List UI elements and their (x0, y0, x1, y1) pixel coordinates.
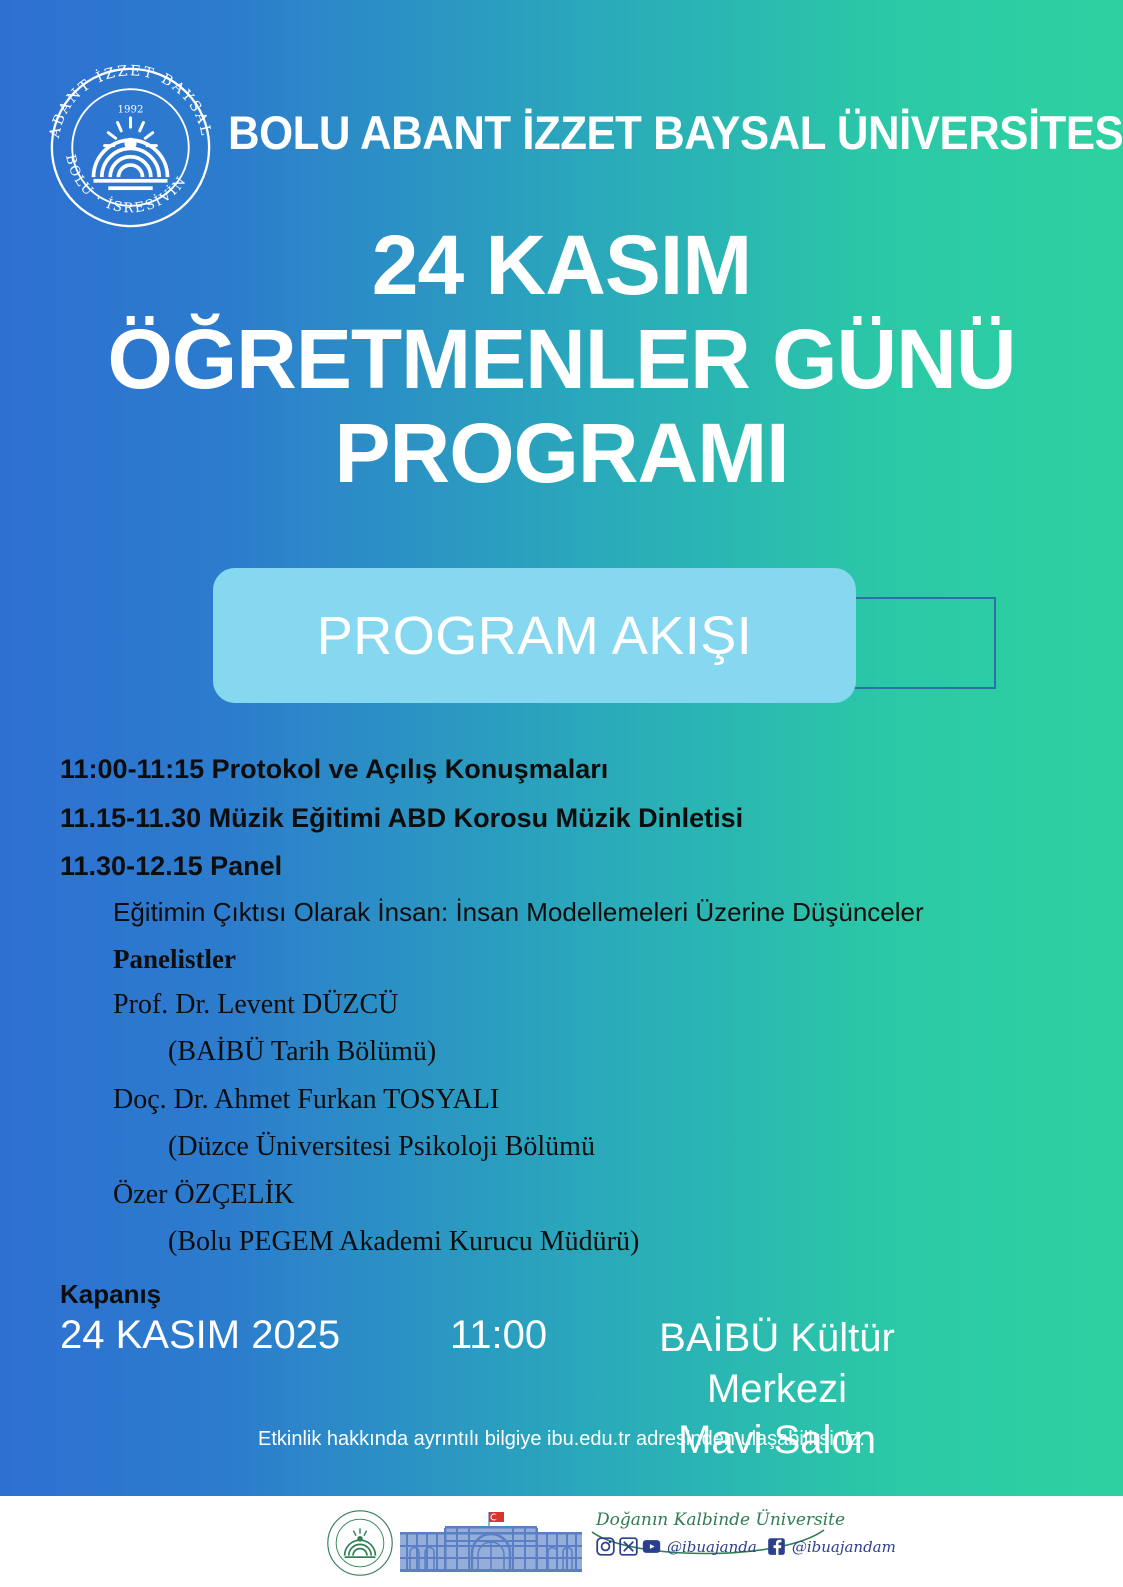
university-name-heading: BOLU ABANT İZZET BAYSAL ÜNİVERSİTESİ (228, 105, 1123, 160)
footer-social-row: @ibuajanda @ibuajandam (596, 1537, 902, 1556)
panelist-name: Doç. Dr. Ahmet Furkan TOSYALI (113, 1084, 499, 1116)
info-note: Etkinlik hakkında ayrıntılı bilgiye ibu.… (0, 1428, 1123, 1451)
panelist-name: Özer ÖZÇELİK (113, 1179, 294, 1211)
panelist-affiliation: (BAİBÜ Tarih Bölümü) (168, 1036, 436, 1068)
poster-canvas: ABANT İZZET BAYSAL Ü BOLU · İSRESİVİN 19… (0, 0, 1123, 1587)
schedule-item: 11.30-12.15 Panel (60, 851, 282, 882)
title-line-2: ÖĞRETMENLER GÜNÜ (0, 312, 1123, 406)
youtube-icon[interactable] (642, 1537, 661, 1556)
social-handle-primary[interactable]: @ibuajanda (667, 1538, 757, 1556)
footer-tagline: Doğanın Kalbinde Üniversite (596, 1510, 845, 1530)
venue-line-1: BAİBÜ Kültür Merkezi (659, 1316, 895, 1411)
university-seal-logo: ABANT İZZET BAYSAL Ü BOLU · İSRESİVİN 19… (38, 55, 223, 240)
svg-text:ABANT İZZET BAYSAL Ü: ABANT İZZET BAYSAL Ü (38, 55, 215, 145)
svg-text:BOLU · İSRESİVİN: BOLU · İSRESİVİN (62, 153, 190, 216)
page-title: 24 KASIM ÖĞRETMENLER GÜNÜ PROGRAMI (0, 218, 1123, 500)
panelist-affiliation: (Düzce Üniversitesi Psikoloji Bölümü (168, 1131, 595, 1163)
svg-text:1992: 1992 (118, 104, 144, 115)
facebook-icon[interactable] (767, 1537, 786, 1556)
schedule-item: 11.15-11.30 Müzik Eğitimi ABD Korosu Müz… (60, 803, 743, 834)
title-line-3: PROGRAMI (0, 406, 1123, 500)
program-flow-label: PROGRAM AKIŞI (317, 605, 753, 667)
program-flow-badge: PROGRAM AKIŞI (213, 568, 856, 703)
instagram-icon[interactable] (596, 1537, 615, 1556)
panelist-affiliation: (Bolu PEGEM Akademi Kurucu Müdürü) (168, 1226, 639, 1258)
x-icon[interactable] (619, 1537, 638, 1556)
campus-building-illustration (396, 1510, 586, 1576)
panelists-heading: Panelistler (113, 944, 236, 975)
panelist-name: Prof. Dr. Levent DÜZCÜ (113, 989, 398, 1021)
event-time: 11:00 (450, 1313, 547, 1358)
closing-label: Kapanış (60, 1279, 161, 1310)
footer-seal-icon (325, 1508, 395, 1578)
panel-topic: Eğitimin Çıktısı Olarak İnsan: İnsan Mod… (113, 897, 924, 928)
title-line-1: 24 KASIM (0, 218, 1123, 312)
event-date: 24 KASIM 2025 (60, 1313, 340, 1358)
footer-bar: Doğanın Kalbinde Üniversite @ibuajanda (0, 1496, 1123, 1587)
social-handle-secondary[interactable]: @ibuajandam (792, 1538, 896, 1556)
schedule-item: 11:00-11:15 Protokol ve Açılış Konuşmala… (60, 754, 608, 785)
